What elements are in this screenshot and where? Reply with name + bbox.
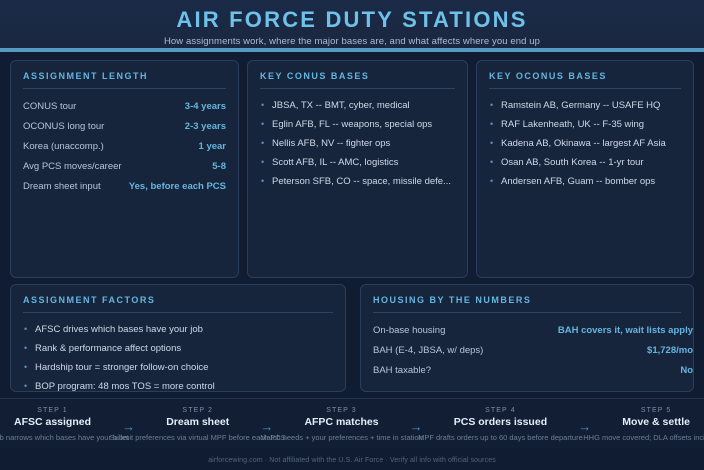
step-title: AFPC matches [304, 416, 378, 428]
stat-row: BAH taxable? No [373, 360, 693, 380]
card-key-oconus-bases: KEY OCONUS BASES Ramstein AB, Germany --… [476, 60, 694, 278]
stat-value: Yes, before each PCS [129, 181, 226, 192]
stat-label: Avg PCS moves/career [23, 161, 122, 172]
step-number: STEP 3 [304, 407, 378, 414]
housing-grid: On-base housing BAH covers it, wait list… [373, 320, 694, 380]
stat-row: Avg PCS moves/career 5-8 [23, 156, 226, 176]
list-item: Nellis AFB, NV -- fighter ops [260, 134, 455, 153]
flow-step-5: STEP 5 Move & settle HHG move covered; D… [622, 407, 690, 428]
stat-row: Korea (unaccomp.) 1 year [23, 136, 226, 156]
arrow-right-icon: → [410, 407, 423, 434]
process-flow: STEP 1 AFSC assigned Your job narrows wh… [0, 398, 704, 448]
page-title: AIR FORCE DUTY STATIONS [0, 7, 704, 33]
bottom-card-row: ASSIGNMENT FACTORS AFSC drives which bas… [10, 284, 694, 392]
card-title-assignment-length: ASSIGNMENT LENGTH [23, 71, 226, 89]
stat-label: BAH (E-4, JBSA, w/ deps) [373, 345, 483, 356]
stat-row: Dream sheet input Yes, before each PCS [23, 176, 226, 196]
stat-value: BAH covers it, wait lists apply [558, 325, 693, 336]
list-item: Rank & performance affect options [23, 339, 333, 358]
arrow-right-icon: → [578, 407, 591, 434]
assignment-factor-list: AFSC drives which bases have your job Ra… [23, 320, 333, 392]
oconus-base-list: Ramstein AB, Germany -- USAFE HQ RAF Lak… [489, 96, 681, 191]
conus-base-list: JBSA, TX -- BMT, cyber, medical Eglin AF… [260, 96, 455, 191]
step-title: PCS orders issued [454, 416, 547, 428]
list-item: Osan AB, South Korea -- 1-yr tour [489, 153, 681, 172]
stat-value: 5-8 [212, 161, 226, 172]
list-item: RAF Lakenheath, UK -- F-35 wing [489, 115, 681, 134]
stat-value: 1 year [199, 141, 226, 152]
step-description: Match needs + your preferences + time in… [260, 433, 423, 442]
stat-row: On-base housing BAH covers it, wait list… [373, 320, 693, 340]
list-item: AFSC drives which bases have your job [23, 320, 333, 339]
list-item: Scott AFB, IL -- AMC, logistics [260, 153, 455, 172]
card-title-key-conus-bases: KEY CONUS BASES [260, 71, 455, 89]
list-item: BOP program: 48 mos TOS = more control [23, 377, 333, 392]
process-flow-steps: STEP 1 AFSC assigned Your job narrows wh… [0, 399, 704, 434]
card-assignment-factors: ASSIGNMENT FACTORS AFSC drives which bas… [10, 284, 346, 392]
step-number: STEP 5 [622, 407, 690, 414]
card-title-assignment-factors: ASSIGNMENT FACTORS [23, 295, 333, 313]
flow-step-4: STEP 4 PCS orders issued MPF drafts orde… [454, 407, 547, 428]
stat-value: No [680, 365, 693, 376]
list-item: Eglin AFB, FL -- weapons, special ops [260, 115, 455, 134]
top-card-row: ASSIGNMENT LENGTH CONUS tour 3-4 years O… [10, 60, 694, 278]
step-number: STEP 4 [454, 407, 547, 414]
flow-step-3: STEP 3 AFPC matches Match needs + your p… [304, 407, 378, 428]
card-assignment-length: ASSIGNMENT LENGTH CONUS tour 3-4 years O… [10, 60, 239, 278]
list-item: Ramstein AB, Germany -- USAFE HQ [489, 96, 681, 115]
footer-disclaimer: airforcewing.com · Not affiliated with t… [0, 457, 704, 464]
stat-label: BAH taxable? [373, 365, 431, 376]
step-number: STEP 1 [14, 407, 91, 414]
flow-step-1: STEP 1 AFSC assigned Your job narrows wh… [14, 407, 91, 428]
card-title-housing: HOUSING BY THE NUMBERS [373, 295, 681, 313]
stat-value: 2-3 years [185, 121, 226, 132]
page-header: AIR FORCE DUTY STATIONS How assignments … [0, 0, 704, 52]
stat-value: 3-4 years [185, 101, 226, 112]
step-title: AFSC assigned [14, 416, 91, 428]
stat-row: CONUS tour 3-4 years [23, 96, 226, 116]
list-item: Peterson SFB, CO -- space, missile defe.… [260, 172, 455, 191]
step-title: Move & settle [622, 416, 690, 428]
stat-row: OCONUS long tour 2-3 years [23, 116, 226, 136]
stat-row: BAH (E-4, JBSA, w/ deps) $1,728/mo [373, 340, 693, 360]
stat-label: Dream sheet input [23, 181, 101, 192]
stat-label: CONUS tour [23, 101, 76, 112]
list-item: Kadena AB, Okinawa -- largest AF Asia [489, 134, 681, 153]
arrow-right-icon: → [122, 407, 135, 434]
list-item: JBSA, TX -- BMT, cyber, medical [260, 96, 455, 115]
card-title-key-oconus-bases: KEY OCONUS BASES [489, 71, 681, 89]
housing-column-left: On-base housing BAH covers it, wait list… [373, 320, 693, 380]
card-housing: HOUSING BY THE NUMBERS On-base housing B… [360, 284, 694, 392]
stat-value: $1,728/mo [647, 345, 693, 356]
list-item: Andersen AFB, Guam -- bomber ops [489, 172, 681, 191]
stat-label: On-base housing [373, 325, 445, 336]
flow-step-2: STEP 2 Dream sheet Submit preferences vi… [166, 407, 229, 428]
list-item: Hardship tour = stronger follow-on choic… [23, 358, 333, 377]
page-subtitle: How assignments work, where the major ba… [0, 36, 704, 47]
card-key-conus-bases: KEY CONUS BASES JBSA, TX -- BMT, cyber, … [247, 60, 468, 278]
stat-label: Korea (unaccomp.) [23, 141, 104, 152]
stat-label: OCONUS long tour [23, 121, 104, 132]
step-title: Dream sheet [166, 416, 229, 428]
arrow-right-icon: → [260, 407, 273, 434]
step-description: MPF drafts orders up to 60 days before d… [418, 433, 583, 442]
step-number: STEP 2 [166, 407, 229, 414]
step-description: HHG move covered; DLA offsets incidental… [583, 433, 704, 442]
